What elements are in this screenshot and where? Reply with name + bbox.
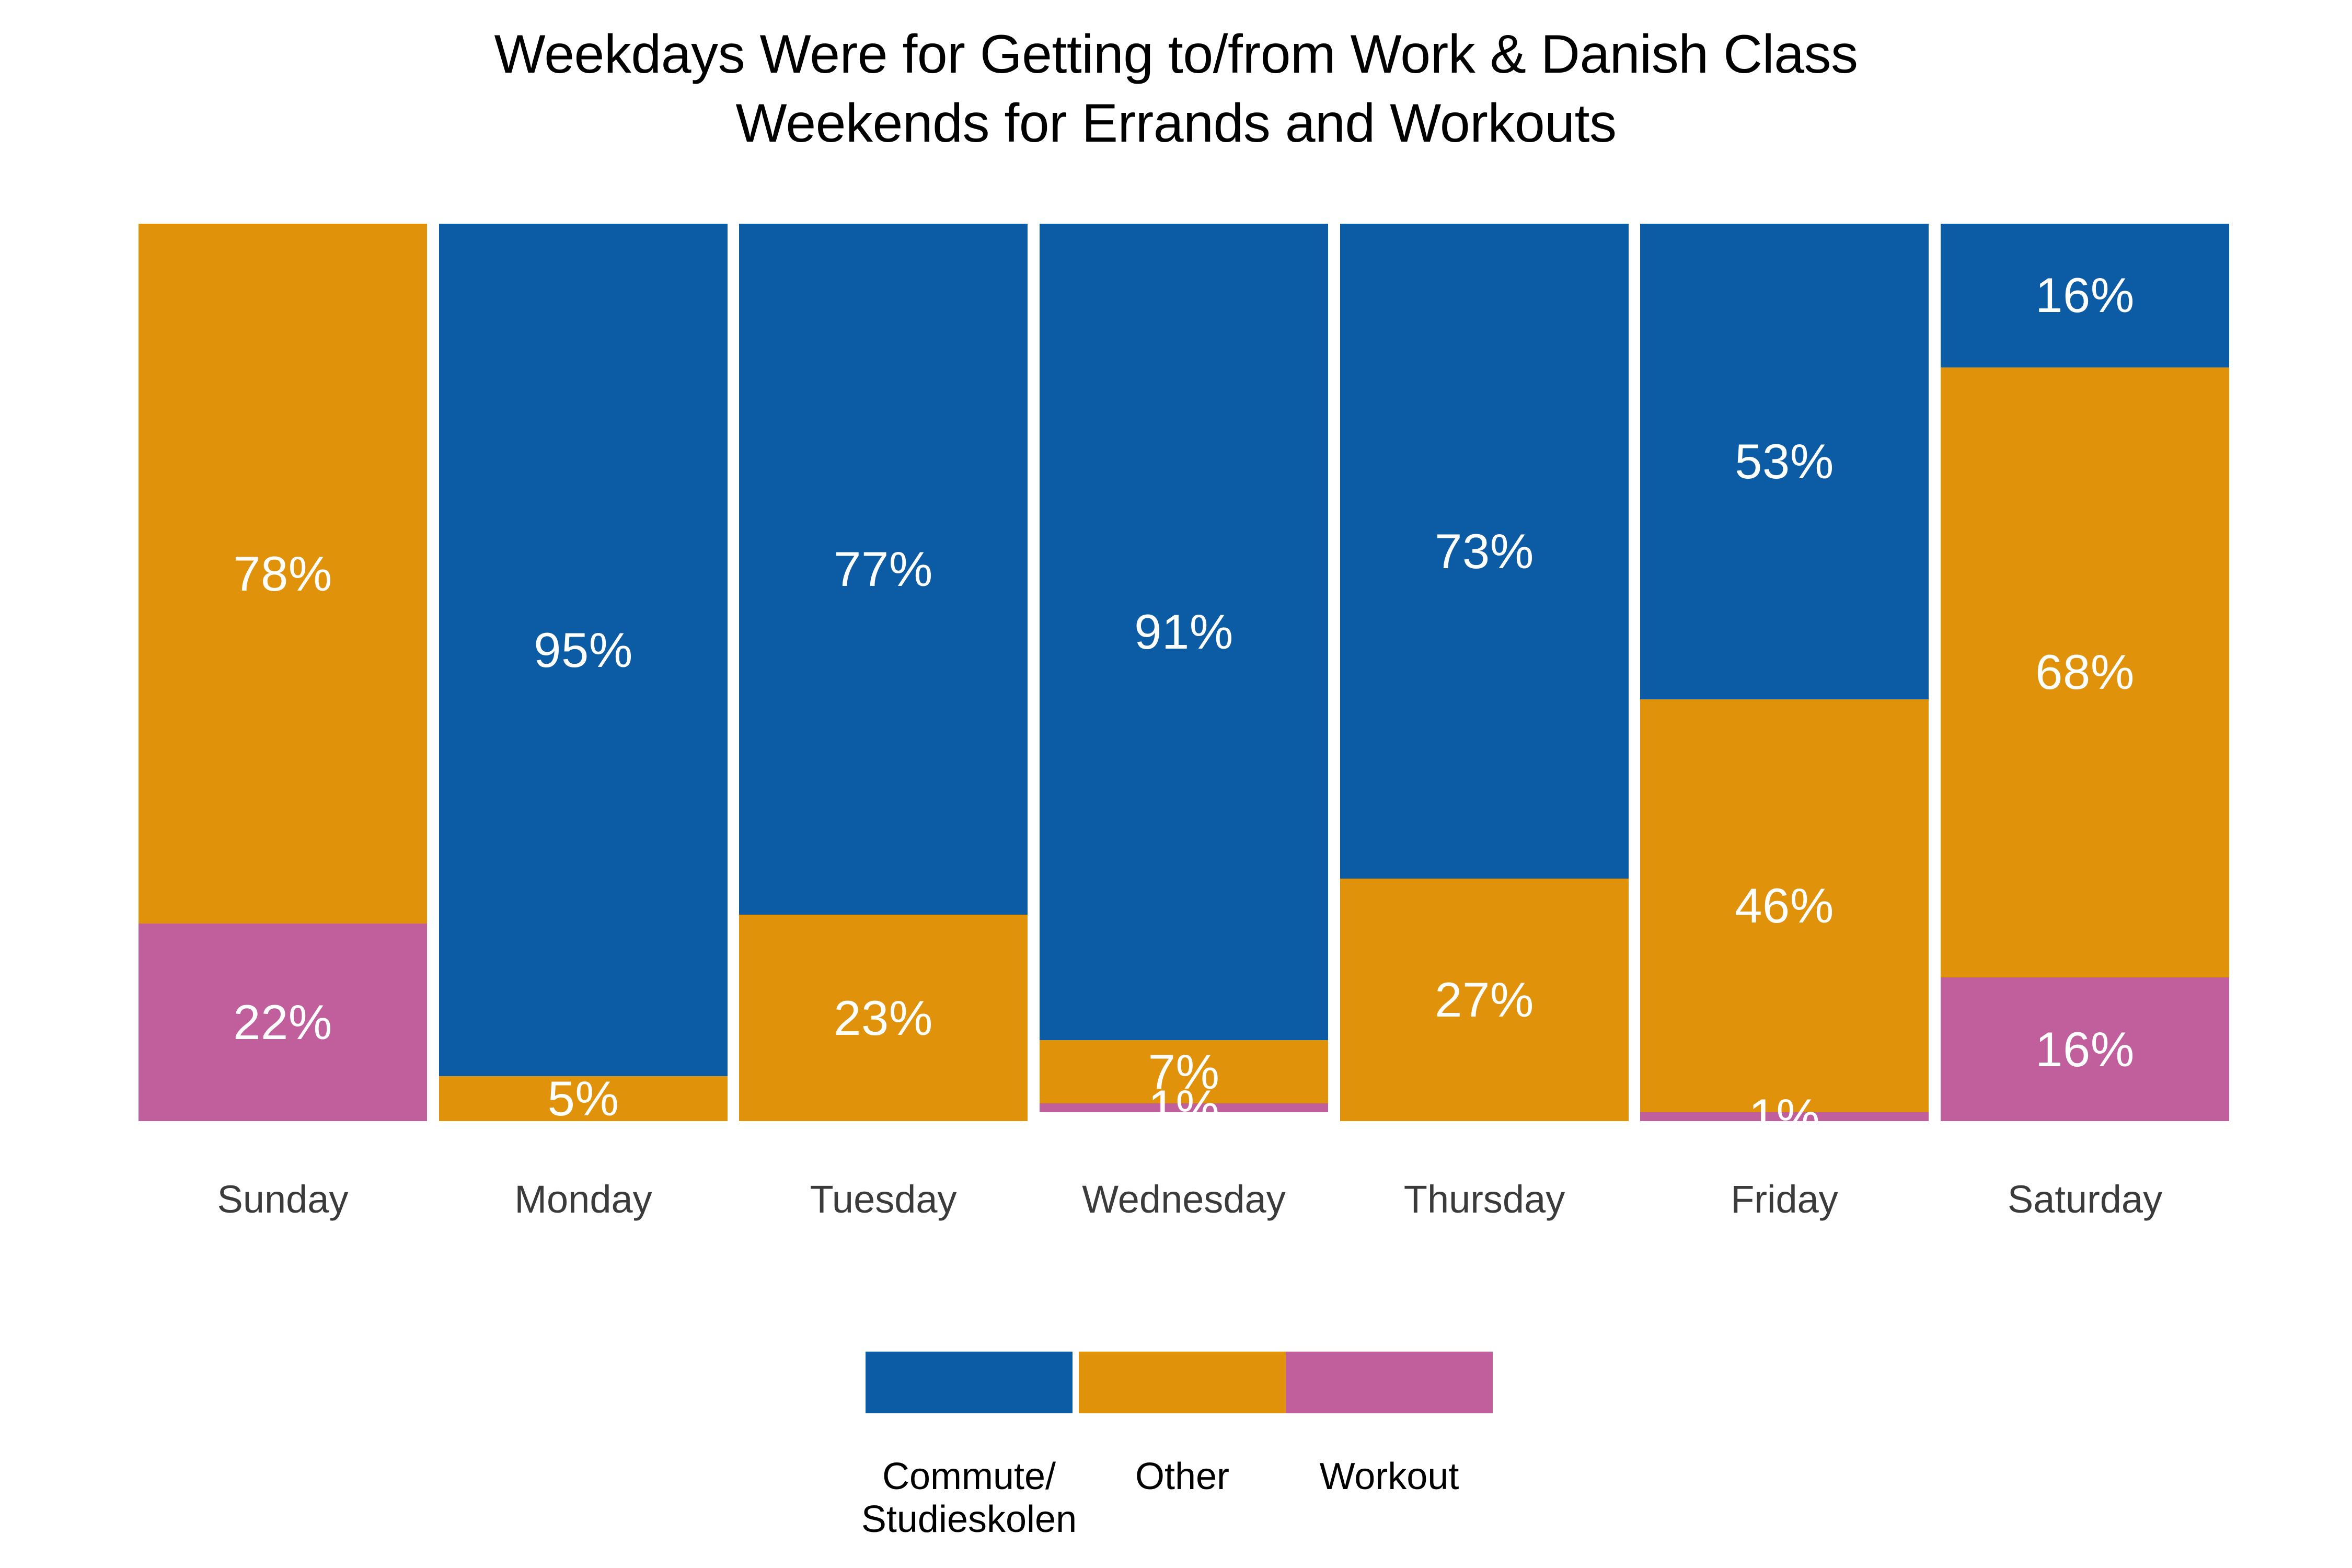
bar-segment-monday-1[interactable]: 5%: [439, 1076, 728, 1121]
bar-segment-thursday-1[interactable]: 27%: [1340, 879, 1629, 1121]
bar-column-saturday[interactable]: 16%68%16%: [1941, 224, 2229, 1121]
legend-items: Commute/ StudieskolenOtherWorkout: [859, 1352, 1493, 1541]
x-tick-label-friday: Friday: [1640, 1168, 1929, 1231]
bar-segment-value-label: 16%: [2035, 271, 2135, 320]
chart-title: Weekdays Were for Getting to/from Work &…: [0, 20, 2352, 158]
bar-segment-value-label: 78%: [233, 549, 332, 598]
bar-column-tuesday[interactable]: 77%23%: [739, 224, 1028, 1121]
bar-segment-sunday-1[interactable]: 78%: [139, 224, 427, 924]
legend-swatch-icon: [1079, 1352, 1286, 1413]
bar-segment-value-label: 46%: [1735, 881, 1834, 930]
chart-figure: Weekdays Were for Getting to/from Work &…: [0, 0, 2352, 1568]
bar-segment-value-label: 22%: [233, 998, 332, 1047]
plot-area: 78%22%95%5%77%23%91%7%1%73%27%53%46%1%16…: [139, 224, 2229, 1121]
bar-segment-saturday-2[interactable]: 16%: [1941, 977, 2229, 1121]
x-tick-label-wednesday: Wednesday: [1040, 1168, 1328, 1231]
bar-segment-saturday-0[interactable]: 16%: [1941, 224, 2229, 367]
bar-segment-value-label: 95%: [534, 626, 633, 675]
bar-segment-value-label: 77%: [834, 545, 933, 594]
legend-item-commute-studieskolen[interactable]: Commute/ Studieskolen: [859, 1352, 1079, 1541]
legend-label: Workout: [1286, 1455, 1493, 1498]
bar-segment-value-label: 23%: [834, 994, 933, 1043]
x-tick-label-monday: Monday: [439, 1168, 728, 1231]
legend-item-workout[interactable]: Workout: [1286, 1352, 1493, 1498]
x-tick-label-sunday: Sunday: [139, 1168, 427, 1231]
chart-title-line-2: Weekends for Errands and Workouts: [0, 89, 2352, 158]
bar-segment-sunday-2[interactable]: 22%: [139, 924, 427, 1121]
bar-segment-value-label: 27%: [1435, 975, 1534, 1024]
chart-title-line-1: Weekdays Were for Getting to/from Work &…: [0, 20, 2352, 89]
bar-column-friday[interactable]: 53%46%1%: [1640, 224, 1929, 1121]
x-tick-label-saturday: Saturday: [1941, 1168, 2229, 1231]
bar-segment-value-label: 5%: [548, 1074, 619, 1121]
legend-item-other[interactable]: Other: [1079, 1352, 1286, 1498]
bar-segment-value-label: 7%: [1148, 1047, 1220, 1097]
bar-segment-value-label: 73%: [1435, 527, 1534, 576]
bar-segment-monday-0[interactable]: 95%: [439, 224, 728, 1076]
bar-segment-wednesday-2[interactable]: 1%: [1040, 1103, 1328, 1112]
bar-segment-friday-1[interactable]: 46%: [1640, 699, 1929, 1112]
x-axis-tick-labels: SundayMondayTuesdayWednesdayThursdayFrid…: [139, 1168, 2229, 1236]
legend-label: Other: [1079, 1455, 1286, 1498]
bar-segment-tuesday-1[interactable]: 23%: [739, 915, 1028, 1121]
bar-segment-thursday-0[interactable]: 73%: [1340, 224, 1629, 879]
bar-segment-value-label: 68%: [2035, 648, 2135, 697]
bar-segment-friday-2[interactable]: 1%: [1640, 1112, 1929, 1121]
bar-segment-friday-0[interactable]: 53%: [1640, 224, 1929, 699]
bar-column-sunday[interactable]: 78%22%: [139, 224, 427, 1121]
bar-segment-saturday-1[interactable]: 68%: [1941, 367, 2229, 978]
chart-legend: Commute/ StudieskolenOtherWorkout: [0, 1352, 2352, 1541]
x-tick-label-thursday: Thursday: [1340, 1168, 1629, 1231]
bar-segment-value-label: 16%: [2035, 1025, 2135, 1074]
x-tick-label-tuesday: Tuesday: [739, 1168, 1028, 1231]
legend-label: Commute/ Studieskolen: [859, 1455, 1079, 1541]
bar-segment-tuesday-0[interactable]: 77%: [739, 224, 1028, 915]
bar-column-thursday[interactable]: 73%27%: [1340, 224, 1629, 1121]
bar-column-wednesday[interactable]: 91%7%1%: [1040, 224, 1328, 1121]
bar-segment-wednesday-1[interactable]: 7%: [1040, 1040, 1328, 1103]
legend-swatch-icon: [866, 1352, 1073, 1413]
legend-swatch-icon: [1286, 1352, 1493, 1413]
bar-segment-value-label: 91%: [1134, 607, 1233, 656]
bar-segment-value-label: 53%: [1735, 437, 1834, 486]
bar-segment-wednesday-0[interactable]: 91%: [1040, 224, 1328, 1040]
bar-column-monday[interactable]: 95%5%: [439, 224, 728, 1121]
